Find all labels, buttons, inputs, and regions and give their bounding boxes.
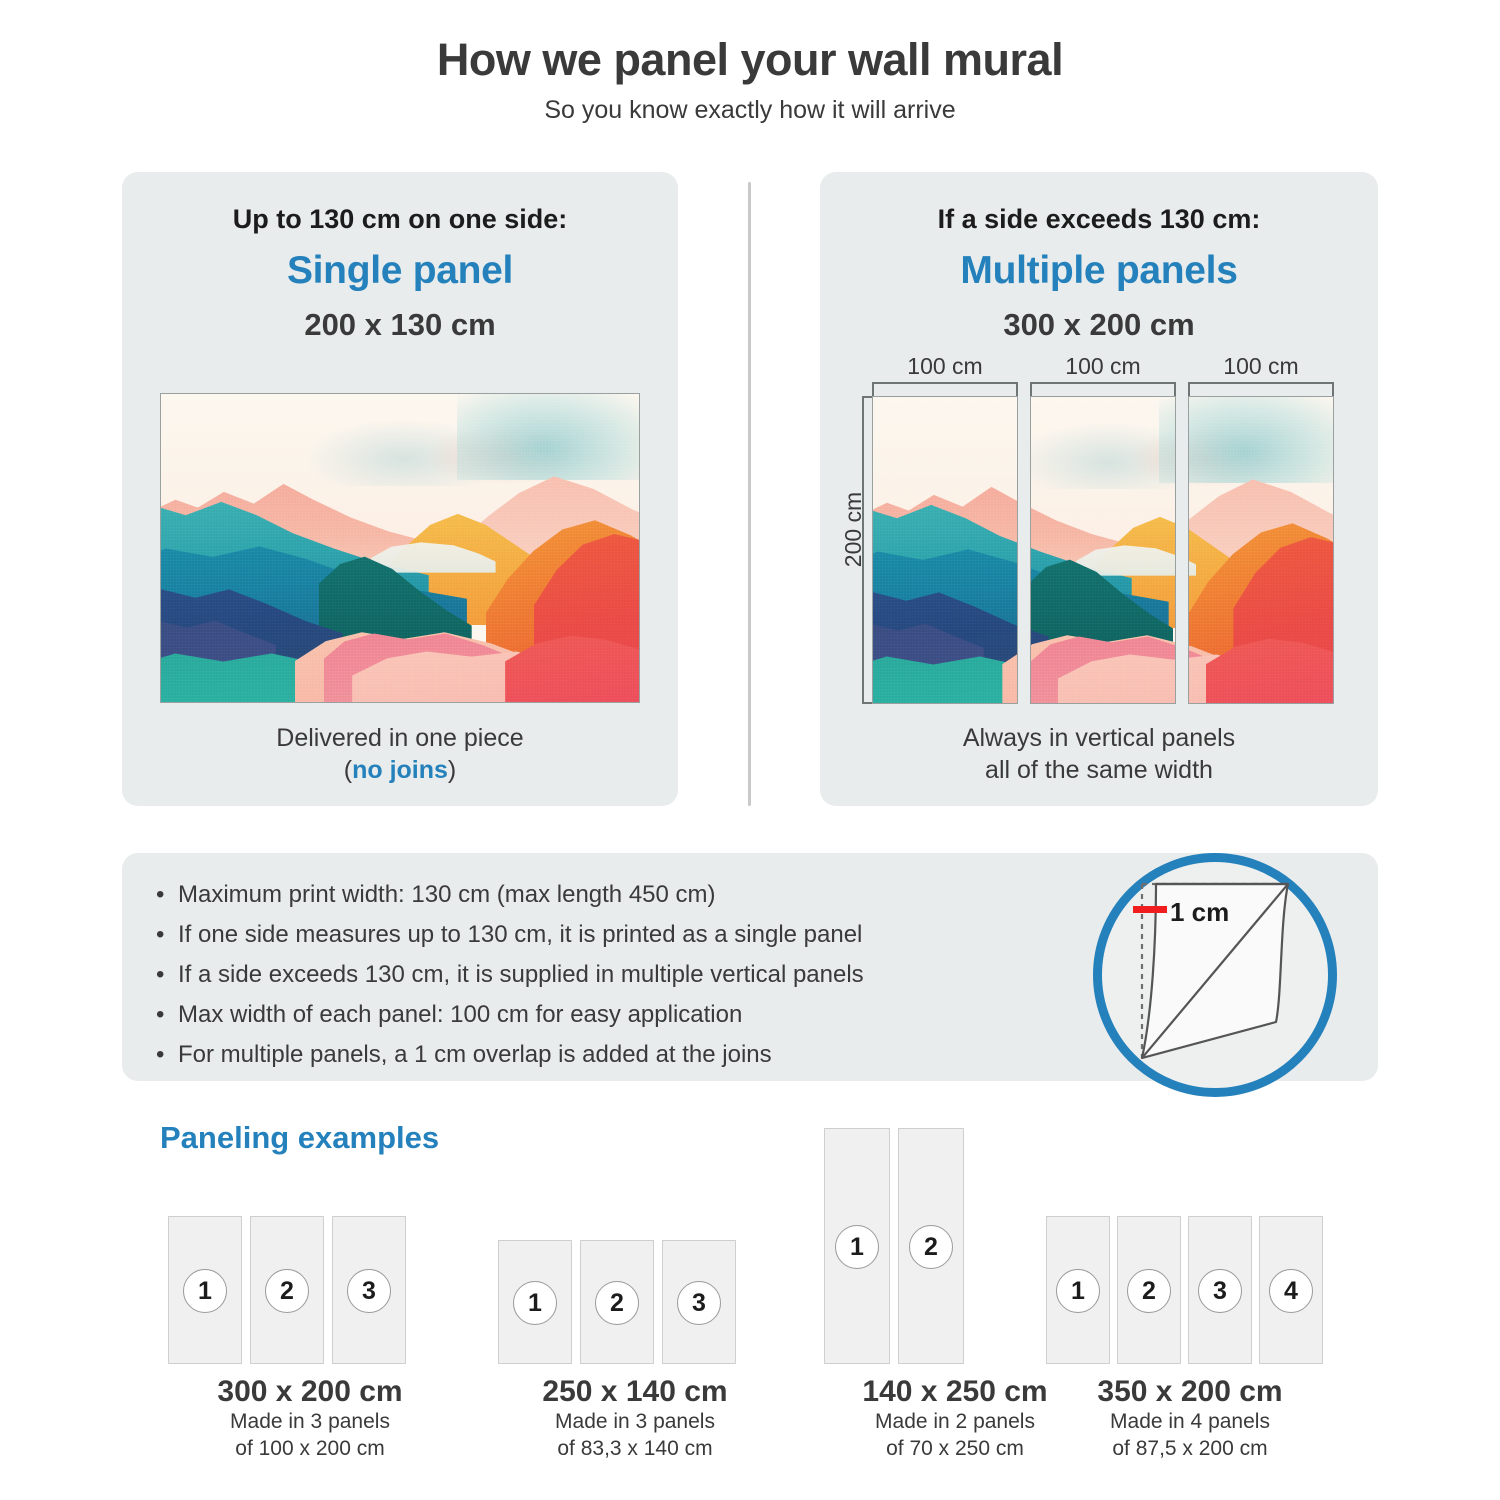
single-caption-paren-close: ) xyxy=(448,756,456,784)
panel-badge: 2 xyxy=(595,1281,639,1325)
panel-badge: 2 xyxy=(909,1225,953,1269)
rules-list: Maximum print width: 130 cm (max length … xyxy=(152,875,864,1075)
example-subtitle: Made in 4 panels of 87,5 x 200 cm xyxy=(1000,1408,1380,1463)
example-sub-line2: of 87,5 x 200 cm xyxy=(1112,1437,1267,1460)
single-panel-kicker: Up to 130 cm on one side: xyxy=(122,204,678,235)
artwork-panel-1 xyxy=(872,396,1018,704)
panel-badge: 3 xyxy=(1198,1269,1242,1313)
rule-item: If one side measures up to 130 cm, it is… xyxy=(152,915,864,955)
multi-caption-line1: Always in vertical panels xyxy=(963,724,1235,752)
panel-badge: 3 xyxy=(347,1269,391,1313)
example-panel: 1 xyxy=(168,1216,242,1364)
example-panel: 2 xyxy=(1117,1216,1181,1364)
dimension-bracket-panel-3: 100 cm xyxy=(1188,382,1334,396)
panel-badge: 4 xyxy=(1269,1269,1313,1313)
artwork-single-panel xyxy=(160,393,640,703)
example-panel: 4 xyxy=(1259,1216,1323,1364)
multi-panel-headline: Multiple panels xyxy=(820,249,1378,293)
panel-badge: 1 xyxy=(183,1269,227,1313)
rule-item: For multiple panels, a 1 cm overlap is a… xyxy=(152,1035,864,1075)
panel-badge: 1 xyxy=(513,1281,557,1325)
multi-panel-kicker: If a side exceeds 130 cm: xyxy=(820,204,1378,235)
example-sub-line1: Made in 4 panels xyxy=(1110,1410,1270,1433)
single-caption-paren-open: ( xyxy=(344,756,352,784)
artwork-panel-2 xyxy=(1030,396,1176,704)
dimension-bracket-panel-2: 100 cm xyxy=(1030,382,1176,396)
example-panel: 3 xyxy=(332,1216,406,1364)
panel-3-width-label: 100 cm xyxy=(1188,353,1334,380)
overlap-label: 1 cm xyxy=(1170,897,1229,928)
multi-panel-caption: Always in vertical panels all of the sam… xyxy=(820,722,1378,786)
single-caption-line1: Delivered in one piece xyxy=(276,724,523,752)
rule-item: Max width of each panel: 100 cm for easy… xyxy=(152,995,864,1035)
example-panel: 2 xyxy=(580,1240,654,1364)
watercolour-artwork-slice-2 xyxy=(1030,397,1176,704)
panel-1-width-label: 100 cm xyxy=(872,353,1018,380)
watercolour-artwork-slice-1 xyxy=(873,397,1018,704)
panel-badge: 1 xyxy=(1056,1269,1100,1313)
watercolour-artwork-slice-3 xyxy=(1188,397,1334,704)
panel-badge: 3 xyxy=(677,1281,721,1325)
rule-item: If a side exceeds 130 cm, it is supplied… xyxy=(152,955,864,995)
dimension-bracket-panel-1: 100 cm xyxy=(872,382,1018,396)
example-panel: 3 xyxy=(1188,1216,1252,1364)
peeled-paper-corner-icon xyxy=(1102,862,1328,1088)
page-header: How we panel your wall mural So you know… xyxy=(0,34,1500,125)
single-caption-highlight: no joins xyxy=(352,756,448,784)
overlap-marker-red xyxy=(1133,906,1167,913)
artwork-panel-3 xyxy=(1188,396,1334,704)
card-divider xyxy=(748,182,751,806)
panel-2-width-label: 100 cm xyxy=(1030,353,1176,380)
watercolour-artwork xyxy=(161,394,639,702)
multi-caption-line2: all of the same width xyxy=(985,756,1213,784)
artwork-multi-panel xyxy=(872,396,1334,704)
page-title: How we panel your wall mural xyxy=(0,34,1500,86)
panel-badge: 1 xyxy=(835,1225,879,1269)
example-panel: 1 xyxy=(1046,1216,1110,1364)
single-panel-size: 200 x 130 cm xyxy=(122,307,678,343)
example-sub-line2: of 100 x 200 cm xyxy=(235,1437,384,1460)
multi-panel-size: 300 x 200 cm xyxy=(820,307,1378,343)
example-panel: 3 xyxy=(662,1240,736,1364)
overlap-diagram-circle xyxy=(1093,853,1337,1097)
example-panel: 2 xyxy=(250,1216,324,1364)
example-title: 350 x 200 cm xyxy=(1000,1375,1380,1409)
page-subtitle: So you know exactly how it will arrive xyxy=(0,96,1500,125)
panel-badge: 2 xyxy=(1127,1269,1171,1313)
rule-item: Maximum print width: 130 cm (max length … xyxy=(152,875,864,915)
example-sub-line2: of 83,3 x 140 cm xyxy=(557,1437,712,1460)
panel-height-label: 200 cm xyxy=(840,492,867,567)
paneling-examples-title: Paneling examples xyxy=(160,1120,439,1156)
single-panel-headline: Single panel xyxy=(122,249,678,293)
example-panel: 1 xyxy=(824,1128,890,1364)
example-sub-line1: Made in 3 panels xyxy=(230,1410,390,1433)
single-panel-caption: Delivered in one piece (no joins) xyxy=(122,722,678,786)
example-panel: 2 xyxy=(898,1128,964,1364)
panel-badge: 2 xyxy=(265,1269,309,1313)
example-panel: 1 xyxy=(498,1240,572,1364)
example-sub-line1: Made in 3 panels xyxy=(555,1410,715,1433)
